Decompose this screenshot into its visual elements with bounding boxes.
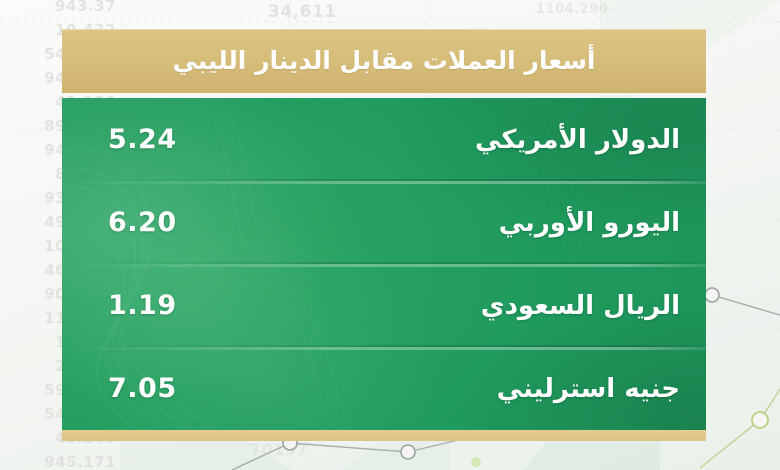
currency-name: اليورو الأوربي [499,210,680,236]
currency-value: 5.24 [108,126,177,153]
currency-name: جنيه استرليني [497,376,680,402]
card-header: أسعار العملات مقابل الدينار الليبي [62,29,706,93]
currency-name: الريال السعودي [481,293,680,319]
table-row[interactable]: اليورو الأوربي 6.20 [62,181,706,264]
screenshot-stage: 943.3710.432545.133943.39443.156896.1989… [0,0,780,470]
table-row[interactable]: جنيه استرليني 7.05 [62,347,706,430]
currency-value: 6.20 [108,209,177,236]
currency-name: الدولار الأمريكي [475,127,680,153]
currency-rates-card: أسعار العملات مقابل الدينار الليبي [62,29,706,441]
table-row[interactable]: الدولار الأمريكي 5.24 [62,98,706,181]
currency-value: 1.19 [108,292,177,319]
card-body: الدولار الأمريكي 5.24 اليورو الأوربي 6.2… [62,98,706,430]
currency-value: 7.05 [108,375,177,402]
card-footer [62,430,706,441]
page-title: أسعار العملات مقابل الدينار الليبي [173,48,596,75]
table-row[interactable]: الريال السعودي 1.19 [62,264,706,347]
rates-list: الدولار الأمريكي 5.24 اليورو الأوربي 6.2… [62,98,706,430]
